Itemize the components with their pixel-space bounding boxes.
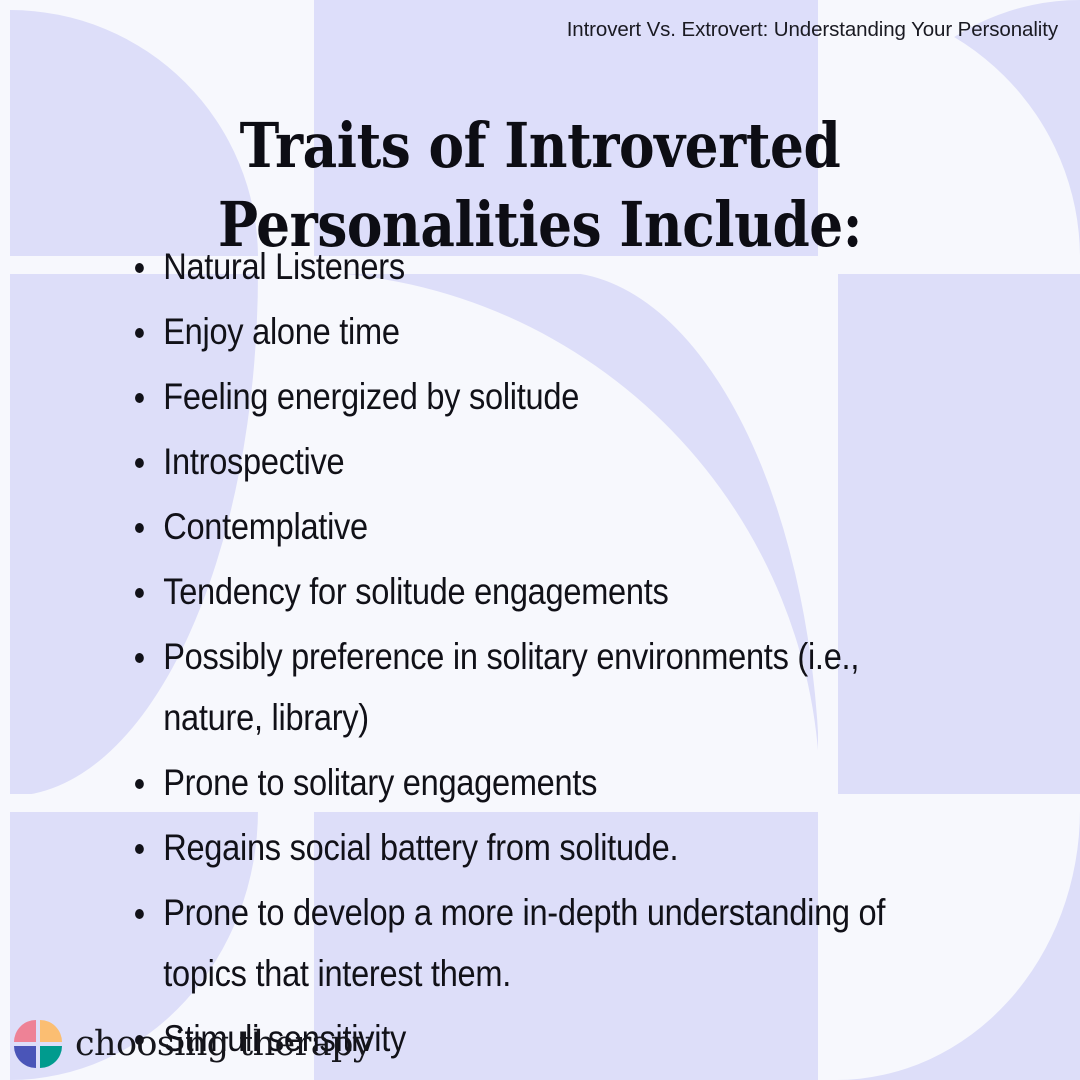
traits-list: Natural Listeners Enjoy alone time Feeli… bbox=[128, 236, 1068, 1073]
brand-lockup: choosing therapy bbox=[14, 1020, 372, 1068]
choosing-therapy-quadrant-logo-icon bbox=[14, 1020, 62, 1068]
poster-content: Introvert Vs. Extrovert: Understanding Y… bbox=[0, 0, 1080, 1080]
logo-quadrant-top-right-icon bbox=[40, 1020, 62, 1042]
poster-canvas: Introvert Vs. Extrovert: Understanding Y… bbox=[0, 0, 1080, 1080]
list-item: Contemplative bbox=[128, 496, 955, 557]
list-item: Regains social battery from solitude. bbox=[128, 817, 955, 878]
list-item: Prone to solitary engagements bbox=[128, 752, 955, 813]
list-item: Introspective bbox=[128, 431, 955, 492]
logo-quadrant-bottom-right-icon bbox=[40, 1046, 62, 1068]
page-title-line-1: Traits of Introverted bbox=[240, 109, 841, 182]
list-item: Prone to develop a more in-depth underst… bbox=[128, 882, 955, 1004]
article-kicker: Introvert Vs. Extrovert: Understanding Y… bbox=[567, 18, 1058, 42]
list-item: Natural Listeners bbox=[128, 236, 955, 297]
list-item: Feeling energized by solitude bbox=[128, 366, 955, 427]
list-item: Enjoy alone time bbox=[128, 301, 955, 362]
list-item: Tendency for solitude engagements bbox=[128, 561, 955, 622]
logo-quadrant-top-left-icon bbox=[14, 1020, 36, 1042]
brand-name: choosing therapy bbox=[75, 1027, 372, 1062]
logo-quadrant-bottom-left-icon bbox=[14, 1046, 36, 1068]
list-item: Possibly preference in solitary environm… bbox=[128, 626, 955, 748]
